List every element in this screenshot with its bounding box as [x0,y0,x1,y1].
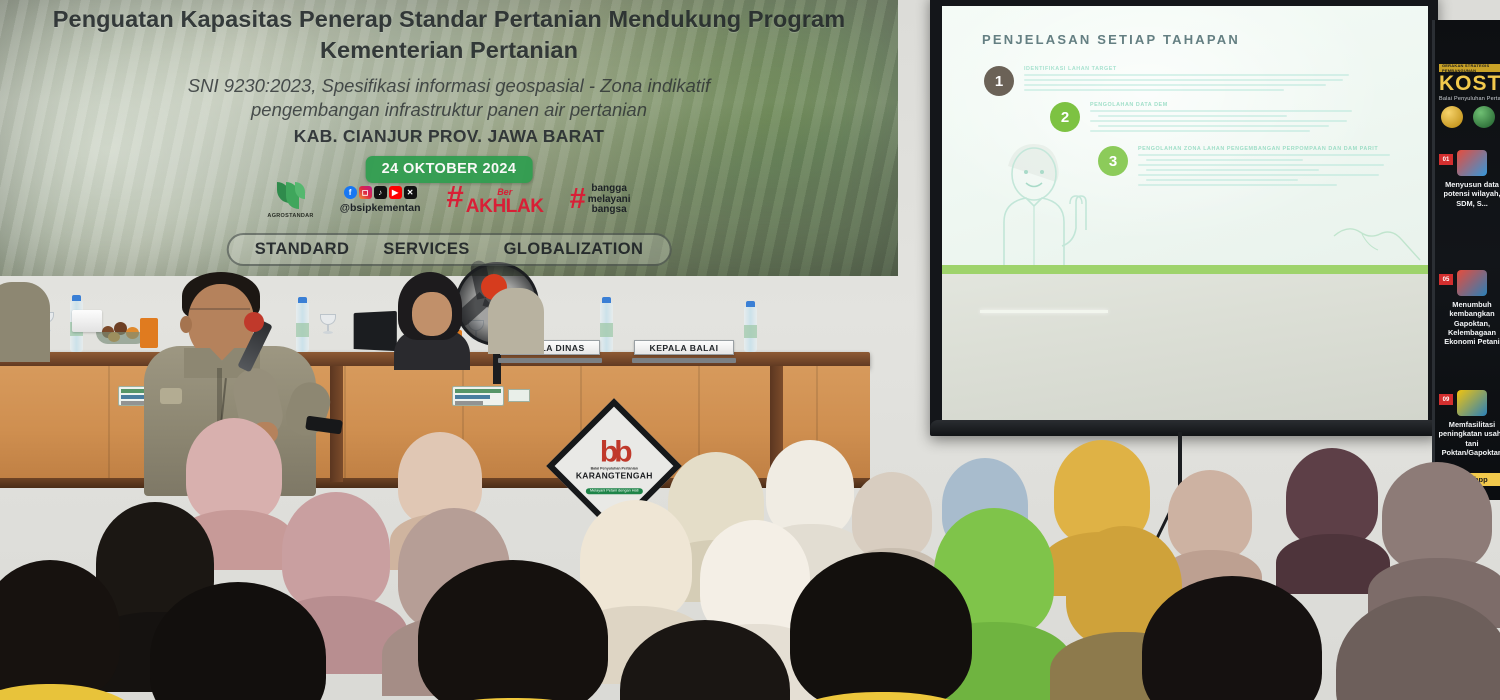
projection-screen-surface: PENJELASAN SETIAP TAHAPAN 1 IDENTIFIKA [942,6,1428,420]
slide-title: PENJELASAN SETIAP TAHAPAN [982,32,1240,47]
social-handle: @bsipkementan [340,202,421,214]
banner-tagline: STANDARD SERVICES GLOBALIZATION [227,233,672,266]
step-number-2: 2 [1050,102,1080,132]
banner-logo-row: AGROSTANDAR f ◻ ♪ ▶ ✕ @bsipkementan # [0,181,898,219]
nameplate-holder-1 [498,358,602,363]
audience-member [620,620,790,700]
water-bottle-3 [600,302,613,352]
audience-member [790,552,972,700]
green-seal-icon [1473,106,1495,128]
rollup-item-2: 05 Menumbuh kembangkan Gapoktan, Kelemba… [1437,270,1500,346]
bangga-line1: bangga [588,184,631,195]
presenter-illustration-icon [978,126,1098,274]
step-heading-1: IDENTIFIKASI LAHAN TARGET [1024,66,1349,72]
step-number-1: 1 [984,66,1014,96]
tagline-standard: STANDARD [255,240,350,259]
bangga-melayani-bangsa-logo: # bangga melayani bangsa [570,184,631,216]
tagline-globalization: GLOBALIZATION [504,240,644,259]
banner-location: KAB. CIANJUR PROV. JAWA BARAT [0,126,898,147]
akhlak-word: AKHLAK [466,197,544,216]
terrain-outline-icon [1332,220,1422,262]
audience-member [150,582,326,700]
rollup-item-1: 01 Menyusun data potensi wilayah, SDM, S… [1437,150,1500,208]
rollup-text-1: Menyusun data potensi wilayah, SDM, S... [1437,180,1500,208]
bpp-caption-ribbon: Melayani Petani dengan Hati [586,488,643,494]
audience-member [1142,576,1322,700]
uniform-shoulder-patch [160,388,182,404]
step-body-lines-1 [1024,74,1349,91]
slide-step-2: 2 PENGOLAHAN DATA DEM [1050,102,1352,135]
x-icon: ✕ [404,186,417,199]
growth-chart-icon [1457,390,1487,416]
step-body-lines-2 [1090,110,1352,132]
screen-light-streak [980,310,1108,313]
screen-roller-bar [930,420,1442,436]
laptop [354,311,397,351]
rollup-text-2: Menumbuh kembangkan Gapoktan, Kelembagaa… [1437,300,1500,346]
drinking-glass-2 [320,314,336,334]
partial-person-left [0,282,50,362]
bpp-caption-main: KARANGTENGAH [576,471,653,480]
agrostandar-label: AGROSTANDAR [267,213,313,219]
nameplate-holder-2 [632,358,736,363]
event-backdrop-banner: Penguatan Kapasitas Penerap Standar Pert… [0,0,898,276]
hashtag-icon-2: # [570,188,586,211]
rollup-badge-3: 09 [1439,394,1453,405]
rollup-text-3: Memfasilitasi peningkatan usaha tani Pok… [1437,420,1500,457]
facebook-icon: f [344,186,357,199]
microphone-head [244,312,264,332]
berakhlak-logo: # Ber AKHLAK [447,185,544,216]
rollup-seal-row [1441,106,1495,128]
seated-officer-person [398,272,468,362]
hashtag-icon: # [447,185,464,210]
banner-title: Penguatan Kapasitas Penerap Standar Pert… [30,4,868,66]
banner-subtitle: SNI 9230:2023, Spesifikasi informasi geo… [110,74,788,122]
step-body-lines-3 [1138,154,1400,186]
table-sticker-small-2 [508,389,530,402]
puzzle-icon [1457,150,1487,176]
step-heading-3: PENGOLAHAN ZONA LAHAN PENGEMBANGAN PERPO… [1138,146,1400,152]
audience-member [0,560,120,700]
event-photo-scene: Penguatan Kapasitas Penerap Standar Pert… [0,0,1500,700]
presentation-slide: PENJELASAN SETIAP TAHAPAN 1 IDENTIFIKA [942,6,1428,274]
tagline-services: SERVICES [383,240,469,259]
leaf-icon [276,181,306,211]
audience-member [1336,596,1500,700]
rollup-subtitle: Balai Penyuluhan Pertanian [1439,96,1500,102]
water-bottle-4 [744,306,757,352]
rollup-ribbon: GERAKAN STRATEGIS PEMBANGUNAN [1439,64,1500,72]
banner-title-line1: Penguatan Kapasitas Penerap Standar Pert… [30,4,868,35]
rollup-badge-2: 05 [1439,274,1453,285]
audience-member [418,560,608,700]
slide-step-3: 3 PENGOLAHAN ZONA LAHAN PENGEMBANGAN PER… [1098,146,1400,189]
rollup-badge-1: 01 [1439,154,1453,165]
partial-person-behind-table [488,288,544,354]
agrostandar-logo: AGROSTANDAR [267,181,313,219]
tiktok-icon: ♪ [374,186,387,199]
step-number-3: 3 [1098,146,1128,176]
kostratani-rollup-banner: GERAKAN STRATEGIS PEMBANGUNAN KOSTRATANI… [1432,20,1500,500]
banner-title-line2: Kementerian Pertanian [30,35,868,66]
bangga-line3: bangsa [588,205,631,216]
rollup-title: KOSTRATANI [1439,72,1500,96]
step-heading-2: PENGOLAHAN DATA DEM [1090,102,1352,108]
banner-subtitle-line1: SNI 9230:2023, Spesifikasi informasi geo… [110,74,788,98]
banner-subtitle-line2: pengembangan infrastruktur panen air per… [110,98,788,122]
slide-accent-bar [942,265,1428,274]
social-icon-row: f ◻ ♪ ▶ ✕ [344,186,417,199]
slide-step-1: 1 IDENTIFIKASI LAHAN TARGET [984,66,1349,96]
tissue-box [72,310,102,332]
nameplate-kepala-balai: KEPALA BALAI [634,340,734,355]
bpp-monogram: bb [576,437,653,467]
people-group-icon [1457,270,1487,296]
table-sticker-2 [452,386,504,406]
rollup-item-3: 09 Memfasilitasi peningkatan usaha tani … [1437,390,1500,457]
instagram-icon: ◻ [359,186,372,199]
audience-member [1382,462,1492,592]
audience-member [1286,448,1378,566]
social-media-block: f ◻ ♪ ▶ ✕ @bsipkementan [340,186,421,214]
youtube-icon: ▶ [389,186,402,199]
gold-seal-icon [1441,106,1463,128]
